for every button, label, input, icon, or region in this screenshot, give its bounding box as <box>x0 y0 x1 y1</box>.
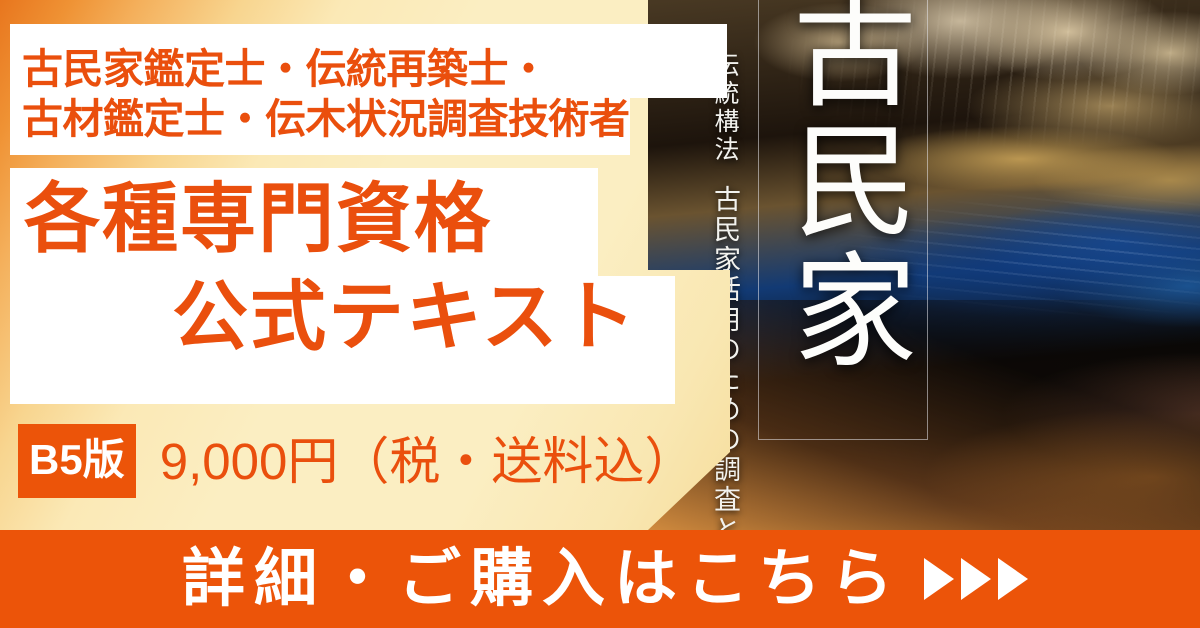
headline-line-2: 公式テキスト <box>172 280 638 356</box>
headline-line-1: 各種専門資格 <box>24 182 492 258</box>
cta-label[interactable]: 詳細・ご購入はこちら <box>172 548 902 611</box>
price-row: B5版 9,000円（税・送料込） <box>18 423 695 499</box>
qualifications-line-1: 古民家鑑定士・伝統再築士・ <box>22 45 630 95</box>
play-arrow-icon <box>961 558 991 600</box>
play-arrow-icon <box>924 558 954 600</box>
qualifications-panel: 古民家鑑定士・伝統再築士・ 古材鑑定士・伝木状況調査技術者 <box>10 24 727 155</box>
headline-panel: 各種専門資格 公式テキスト <box>10 168 675 404</box>
qualifications-text: 古民家鑑定士・伝統再築士・ 古材鑑定士・伝木状況調査技術者 <box>22 45 630 144</box>
cta-bar[interactable]: 詳細・ご購入はこちら <box>0 530 1200 628</box>
book-cover-title: 古民家 <box>760 0 920 376</box>
play-arrow-icon <box>998 558 1028 600</box>
promo-banner: 伝統構法 古民家活用のための調査と再生の 古民家 古民家鑑定士・伝統再築士・ 古… <box>0 0 1200 628</box>
size-badge: B5版 <box>18 424 136 498</box>
price-amount: 9,000円（税・送料込） <box>160 436 696 487</box>
qualifications-line-2: 古材鑑定士・伝木状況調査技術者 <box>22 95 630 145</box>
cta-arrows[interactable] <box>924 558 1028 600</box>
